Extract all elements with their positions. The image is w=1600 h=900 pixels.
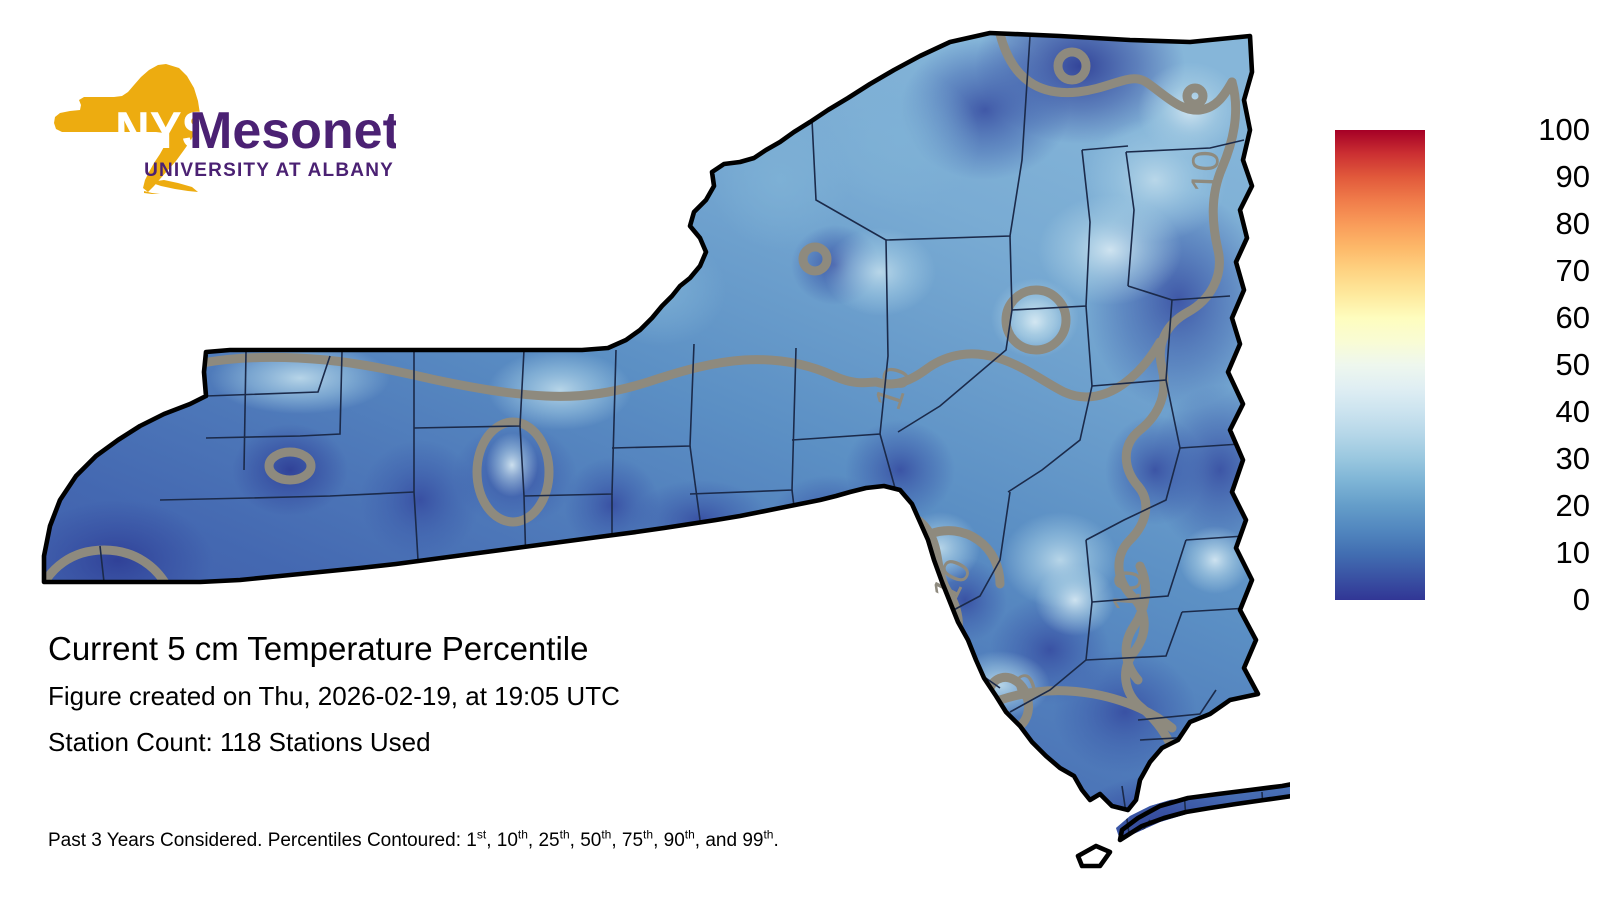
colorbar-tick-40: 40	[1500, 396, 1590, 427]
figure-caption: Current 5 cm Temperature Percentile Figu…	[48, 628, 1048, 762]
footnote-percentile-50: 50th	[580, 830, 611, 851]
contour-label-10: 10	[1184, 150, 1227, 194]
colorbar-tick-100: 100	[1500, 114, 1590, 145]
colorbar-tick-30: 30	[1500, 443, 1590, 474]
figure-footnote: Past 3 Years Considered. Percentiles Con…	[48, 828, 779, 854]
colorbar-tick-0: 0	[1500, 584, 1590, 615]
colorbar-tick-80: 80	[1500, 208, 1590, 239]
footnote-percentile-1: 1st	[466, 830, 486, 851]
footnote-percentile-90: 90th	[664, 830, 695, 851]
footnote-percentile-10: 10th	[497, 830, 528, 851]
footnote-percentile-99: 99th	[742, 830, 773, 851]
station-count-label: Station Count: 118 Stations Used	[48, 722, 1048, 762]
percentile-colorbar: 1009080706050403020100	[1320, 110, 1590, 630]
footnote-percentile-75: 75th	[622, 830, 653, 851]
page-title: Current 5 cm Temperature Percentile	[48, 628, 1048, 670]
colorbar-tick-10: 10	[1500, 537, 1590, 568]
contour-label-10: 10	[1106, 569, 1151, 614]
footnote-percentile-25: 25th	[538, 830, 569, 851]
colorbar-tick-90: 90	[1500, 161, 1590, 192]
map-panel: 101010100	[0, 0, 1290, 900]
percentile-field	[0, 0, 1290, 900]
colorbar-tick-60: 60	[1500, 302, 1590, 333]
colorbar-tick-20: 20	[1500, 490, 1590, 521]
colorbar-gradient	[1335, 130, 1425, 600]
colorbar-tick-70: 70	[1500, 255, 1590, 286]
colorbar-tick-50: 50	[1500, 349, 1590, 380]
new-york-state-percentile-map: 101010100	[0, 0, 1290, 900]
figure-created-timestamp: Figure created on Thu, 2026-02-19, at 19…	[48, 676, 1048, 716]
